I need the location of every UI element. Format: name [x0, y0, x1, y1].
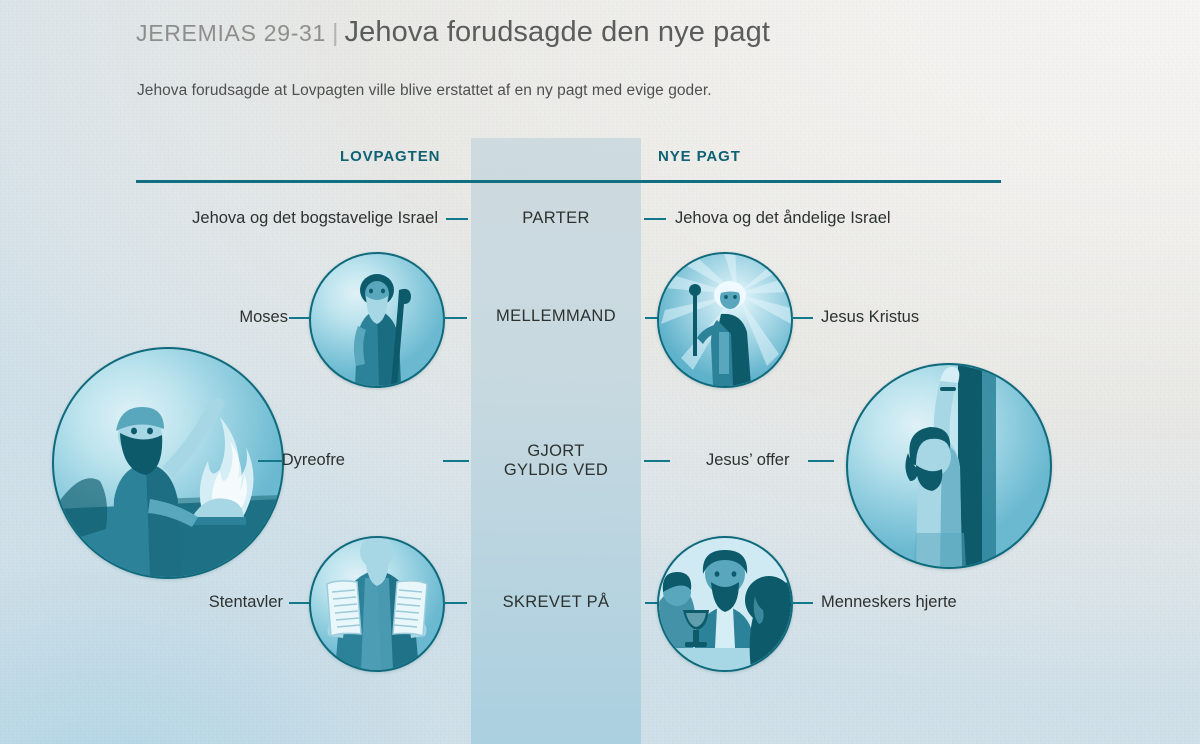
row-label-left-skrevet: Stentavler [209, 593, 283, 612]
moses-with-staff-icon [311, 254, 443, 386]
illustration-jesus-on-stake [846, 363, 1052, 569]
row-aspect-skrevet-paa: SKREVET PÅ [471, 593, 641, 612]
header-divider [136, 180, 1001, 183]
jesus-glorified-with-scepter-icon [659, 254, 791, 386]
connector-right-outer-gjort [808, 460, 834, 462]
connector-left-gjort [443, 460, 469, 462]
subtitle: Jehova forudsagde at Lovpagten ville bli… [137, 82, 712, 100]
illustration-jesus-glorified [657, 252, 793, 388]
priest-animal-sacrifice-altar-icon [54, 349, 282, 577]
page-title: JEREMIAS 29-31|Jehova forudsagde den nye… [136, 16, 770, 49]
row-label-left-parter: Jehova og det bogstavelige Israel [192, 209, 438, 228]
center-aspect-band [471, 138, 641, 744]
connector-right-outer-skrevet [791, 602, 813, 604]
connector-left-inner-skrevet [289, 602, 311, 604]
memorial-observance-with-cup-icon [659, 538, 791, 670]
connector-left-outer-gjort [258, 460, 284, 462]
connector-left-mellemmand [443, 317, 467, 319]
connector-right-parter [644, 218, 666, 220]
illustration-animal-sacrifice [52, 347, 284, 579]
column-header-lovpagten: LOVPAGTEN [340, 148, 440, 165]
connector-right-outer-mellemmand [791, 317, 813, 319]
connector-left-parter [446, 218, 468, 220]
illustration-memorial-observance [657, 536, 793, 672]
connector-left-skrevet [443, 602, 467, 604]
infographic-canvas: JEREMIAS 29-31|Jehova forudsagde den nye… [0, 0, 1200, 744]
title-text: Jehova forudsagde den nye pagt [345, 16, 770, 48]
row-label-right-mellemmand: Jesus Kristus [821, 308, 919, 327]
illustration-moses-with-staff [309, 252, 445, 388]
column-header-nye-pagt: NYE PAGT [658, 148, 741, 165]
row-label-right-skrevet: Menneskers hjerte [821, 593, 957, 612]
jesus-on-torture-stake-icon [848, 365, 1050, 567]
row-aspect-mellemmand: MELLEMMAND [471, 307, 641, 326]
row-aspect-gjort-gyldig-ved: GJORT GYLDIG VED [471, 442, 641, 481]
title-separator: | [326, 19, 345, 47]
row-label-left-gjort: Dyreofre [282, 451, 345, 470]
row-aspect-gjort-line1: GJORT [471, 442, 641, 461]
row-label-left-mellemmand: Moses [239, 308, 288, 327]
row-aspect-parter: PARTER [471, 209, 641, 228]
moses-holding-stone-tablets-icon [311, 538, 443, 670]
illustration-stone-tablets [309, 536, 445, 672]
scripture-reference: JEREMIAS 29-31 [136, 20, 326, 46]
row-label-right-parter: Jehova og det åndelige Israel [675, 209, 891, 228]
connector-right-gjort [644, 460, 670, 462]
connector-left-inner-mellemmand [289, 317, 311, 319]
row-label-right-gjort: Jesus’ offer [706, 451, 789, 470]
row-aspect-gjort-line2: GYLDIG VED [471, 461, 641, 480]
